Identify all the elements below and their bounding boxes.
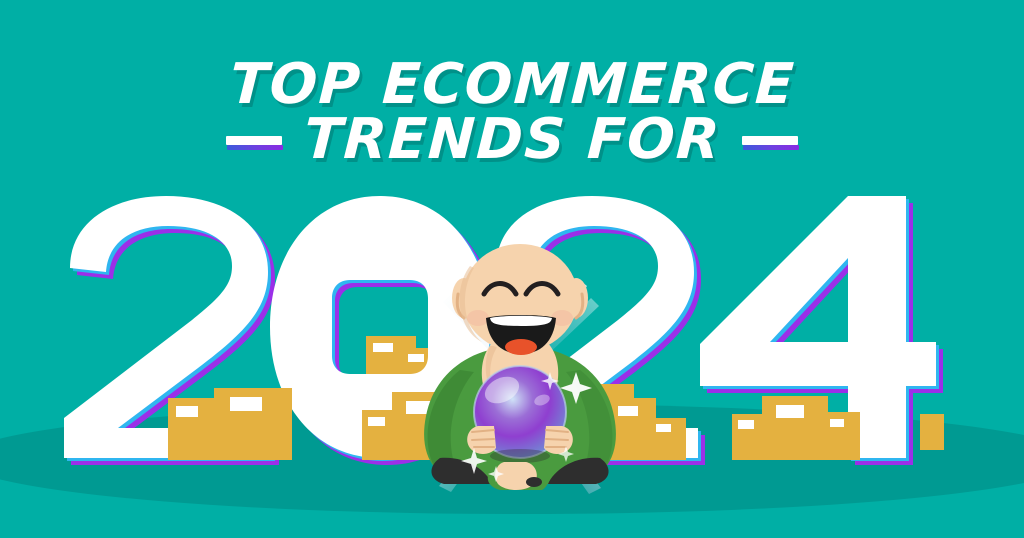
box-far-right-medium (824, 412, 860, 460)
headline-line-1-row: TOP ECOMMERCE (0, 58, 1024, 113)
box-label (776, 405, 804, 418)
box-far-right-large (762, 396, 828, 460)
ecommerce-trends-banner: TOP ECOMMERCE TRENDS FOR (0, 0, 1024, 538)
box-label (176, 406, 198, 417)
box-label (830, 419, 844, 427)
headline-line-2-row: TRENDS FOR (0, 113, 1024, 168)
box-edge-tiny (920, 414, 944, 450)
headline-line-1: TOP ECOMMERCE (228, 58, 796, 113)
laughing-buddha-figure (400, 250, 640, 495)
box-label (738, 420, 754, 429)
headline-line-2: TRENDS FOR (302, 113, 722, 168)
headline-block: TOP ECOMMERCE TRENDS FOR (0, 58, 1024, 168)
box-label (368, 417, 385, 426)
box-left-large (214, 388, 292, 460)
dash-left-icon (226, 136, 282, 145)
box-right-stack-c (650, 418, 686, 460)
box-label (230, 397, 262, 411)
dash-right-icon (742, 136, 798, 145)
box-label (656, 424, 671, 432)
